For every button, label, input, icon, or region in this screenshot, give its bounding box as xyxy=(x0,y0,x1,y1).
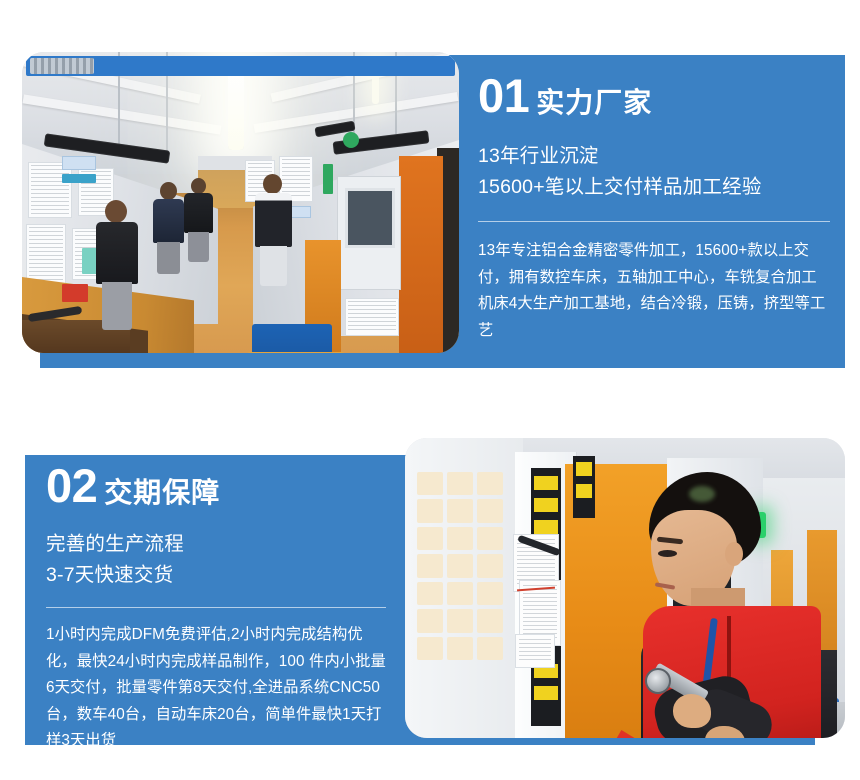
card-01-text: 01 实力厂家 13年行业沉淀 15600+笔以上交付样品加工经验 13年专注铝… xyxy=(478,72,828,344)
card-02-number: 02 xyxy=(46,462,97,509)
card-02-text: 02 交期保障 完善的生产流程 3-7天快速交货 1小时内完成DFM免费评估,2… xyxy=(46,462,391,755)
worker-figure xyxy=(94,200,140,330)
card-02-divider xyxy=(46,607,386,608)
card-01-headline: 01 实力厂家 xyxy=(478,72,828,119)
card-01-subline-1: 13年行业沉淀 xyxy=(478,141,828,172)
card-01-subline-2: 15600+笔以上交付样品加工经验 xyxy=(478,172,828,203)
feature-card-02: 02 交期保障 完善的生产流程 3-7天快速交货 1小时内完成DFM免费评估,2… xyxy=(0,400,860,780)
worker-figure xyxy=(184,178,214,262)
card-02-title: 交期保障 xyxy=(104,479,220,507)
worker-figure xyxy=(254,174,294,286)
card-02-subline-2: 3-7天快速交货 xyxy=(46,560,391,591)
feature-card-01: 01 实力厂家 13年行业沉淀 15600+笔以上交付样品加工经验 13年专注铝… xyxy=(0,0,860,400)
worker-figure xyxy=(152,182,186,274)
workshop-corridor-illustration xyxy=(22,52,459,353)
card-02-body: 1小时内完成DFM免费评估,2小时内完成结构优化，最快24小时内完成样品制作，1… xyxy=(46,622,391,755)
card-01-body: 13年专注铝合金精密零件加工，15600+款以上交付，拥有数控车床，五轴加工中心… xyxy=(478,238,828,344)
card-01-divider xyxy=(478,221,830,222)
card-02-sublines: 完善的生产流程 3-7天快速交货 xyxy=(46,529,391,591)
card-02-subline-1: 完善的生产流程 xyxy=(46,529,391,560)
card-02-headline: 02 交期保障 xyxy=(46,462,391,509)
product-detail-page: 01 实力厂家 13年行业沉淀 15600+笔以上交付样品加工经验 13年专注铝… xyxy=(0,0,860,780)
card-02-operator-photo xyxy=(405,438,845,738)
card-01-workshop-photo xyxy=(22,52,459,353)
card-01-number: 01 xyxy=(478,72,529,119)
card-01-sublines: 13年行业沉淀 15600+笔以上交付样品加工经验 xyxy=(478,141,828,203)
card-01-title: 实力厂家 xyxy=(536,89,652,117)
operator-measuring-illustration xyxy=(405,438,845,738)
